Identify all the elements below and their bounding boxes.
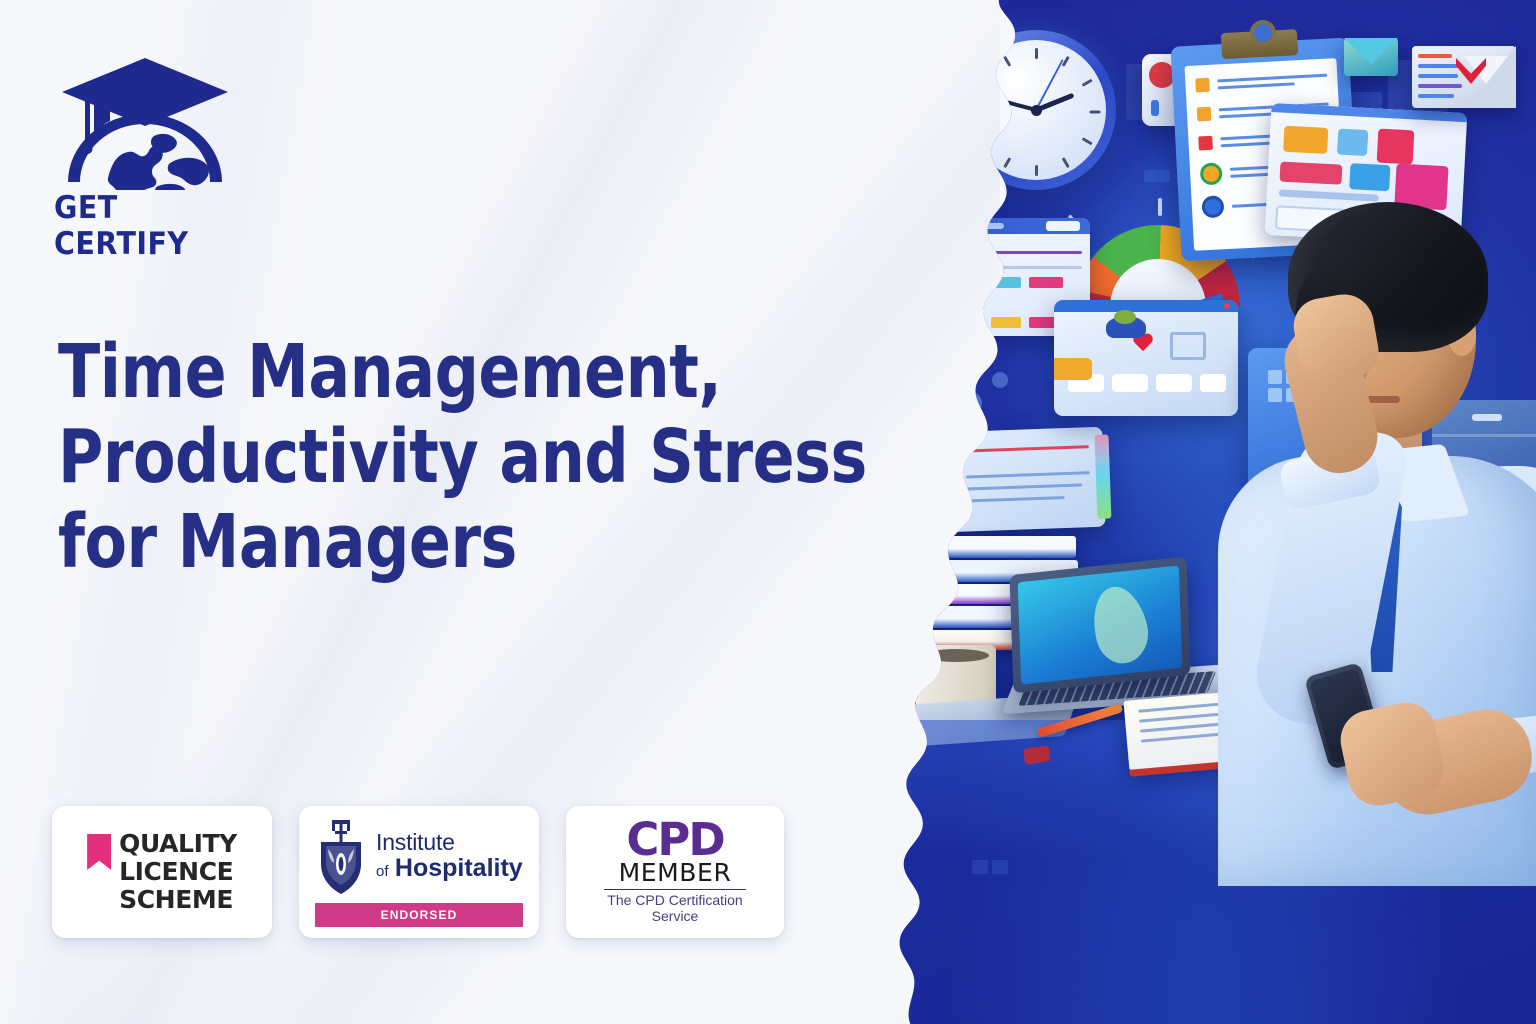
brand-logo-text: GET CERTIFY bbox=[54, 190, 225, 262]
cpd-divider bbox=[604, 889, 746, 891]
heraldic-crest-icon bbox=[315, 818, 367, 896]
accreditation-badges: QUALITY LICENCE SCHEME bbox=[52, 806, 784, 938]
graduation-cap-globe-icon bbox=[50, 50, 240, 190]
qls-line-3: SCHEME bbox=[119, 886, 237, 914]
badge-quality-licence-scheme[interactable]: QUALITY LICENCE SCHEME bbox=[52, 806, 272, 938]
ioh-line-1: Institute bbox=[376, 831, 523, 854]
course-hero-banner: GET CERTIFY Time Management, Productivit… bbox=[0, 0, 1536, 1024]
cpd-acronym: CPD bbox=[626, 813, 723, 866]
ioh-of: of bbox=[376, 863, 389, 880]
laptop-icon bbox=[1009, 557, 1190, 694]
email-envelope-icon bbox=[1344, 38, 1398, 76]
cpd-subtitle-line-2: Service bbox=[578, 909, 772, 925]
qls-line-1: QUALITY bbox=[119, 830, 237, 858]
node-dot bbox=[992, 372, 1008, 388]
qls-line-2: LICENCE bbox=[119, 858, 237, 886]
ioh-endorsed-banner: ENDORSED bbox=[315, 903, 523, 927]
stressed-manager-illustration bbox=[1176, 120, 1536, 880]
page-title: Time Management, Productivity and Stress… bbox=[58, 330, 821, 585]
gauge-ray bbox=[1158, 198, 1162, 216]
badge-institute-of-hospitality[interactable]: Institute of Hospitality ENDORSED bbox=[299, 806, 539, 938]
badge-cpd-member[interactable]: CPD MEMBER The CPD Certification Service bbox=[566, 806, 784, 938]
cpd-logo-text: CPD bbox=[626, 819, 723, 862]
email-envelope-checked-icon bbox=[1412, 46, 1516, 108]
page-title-line-1: Time Management, bbox=[58, 330, 821, 415]
page-title-line-2: Productivity and Stress bbox=[58, 415, 821, 500]
cpd-subtitle-line-1: The CPD Certification bbox=[578, 893, 772, 909]
brand-logo[interactable]: GET CERTIFY bbox=[50, 50, 240, 225]
ioh-hospitality: Hospitality bbox=[395, 854, 523, 882]
page-title-line-3: for Managers bbox=[58, 500, 821, 585]
bookmark-ribbon-icon bbox=[87, 834, 111, 870]
